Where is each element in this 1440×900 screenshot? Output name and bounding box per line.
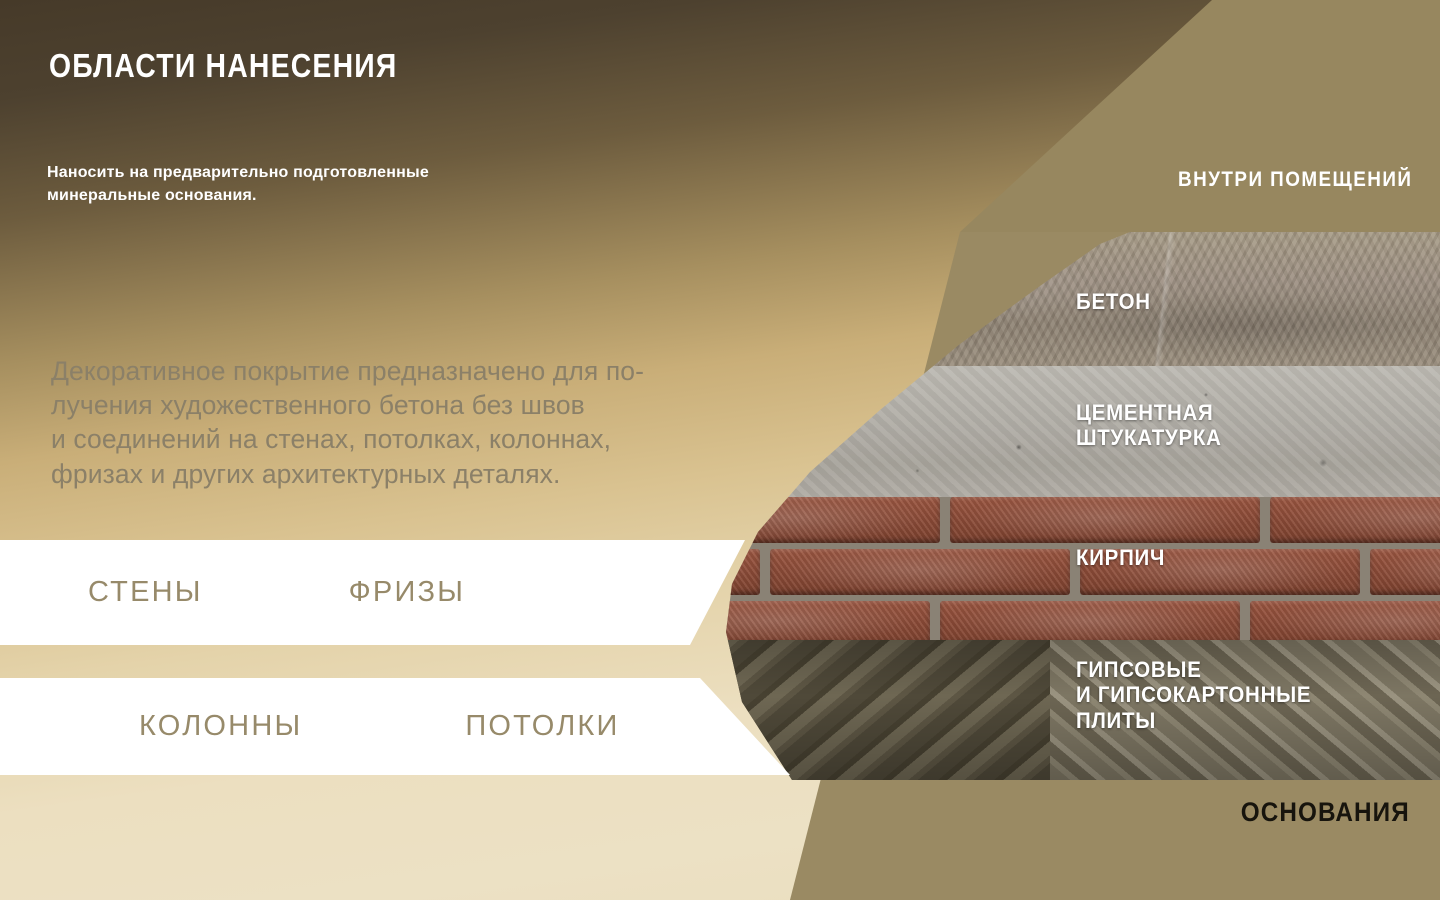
material-concrete-line-1: БЕТОН bbox=[1076, 289, 1151, 314]
material-label-cement-plaster: ЦЕМЕНТНАЯ ШТУКАТУРКА bbox=[1076, 400, 1222, 451]
texture-brick bbox=[660, 497, 1440, 640]
description-line-4: фризах и других архитектурных деталях. bbox=[51, 457, 811, 491]
application-area-ceilings[interactable]: ПОТОЛКИ bbox=[465, 710, 619, 743]
material-gypsum-line-2: И ГИПСОКАРТОННЫЕ bbox=[1076, 682, 1311, 707]
material-cement-line-1: ЦЕМЕНТНАЯ bbox=[1076, 400, 1222, 425]
material-brick-line-1: КИРПИЧ bbox=[1076, 545, 1165, 570]
description-line-3: и соединений на стенах, потолках, колонн… bbox=[51, 422, 811, 456]
material-cement-line-2: ШТУКАТУРКА bbox=[1076, 425, 1222, 450]
page-title: ОБЛАСТИ НАНЕСЕНИЯ bbox=[49, 47, 397, 85]
material-gypsum-line-1: ГИПСОВЫЕ bbox=[1076, 657, 1311, 682]
indoor-heading: ВНУТРИ ПОМЕЩЕНИЙ bbox=[1178, 168, 1412, 192]
material-label-concrete: БЕТОН bbox=[1076, 289, 1151, 314]
application-area-walls[interactable]: СТЕНЫ bbox=[88, 576, 203, 609]
description-paragraph: Декоративное покрытие предназначено для … bbox=[51, 354, 811, 491]
slide-canvas: СТЕНЫ ФРИЗЫ КОЛОННЫ ПОТОЛКИ ОБЛАСТИ НАНЕ… bbox=[0, 0, 1440, 900]
lead-instruction: Наносить на предварительно подготовленны… bbox=[47, 162, 447, 207]
material-label-brick: КИРПИЧ bbox=[1076, 545, 1165, 570]
material-gypsum-line-3: ПЛИТЫ bbox=[1076, 708, 1311, 733]
application-area-friezes[interactable]: ФРИЗЫ bbox=[349, 576, 465, 609]
foundations-label: ОСНОВАНИЯ bbox=[1241, 797, 1410, 828]
description-line-2: лучения художественного бетона без швов bbox=[51, 388, 811, 422]
material-label-gypsum-board: ГИПСОВЫЕ И ГИПСОКАРТОННЫЕ ПЛИТЫ bbox=[1076, 657, 1311, 733]
description-line-1: Декоративное покрытие предназначено для … bbox=[51, 354, 811, 388]
application-area-columns[interactable]: КОЛОННЫ bbox=[139, 710, 302, 743]
